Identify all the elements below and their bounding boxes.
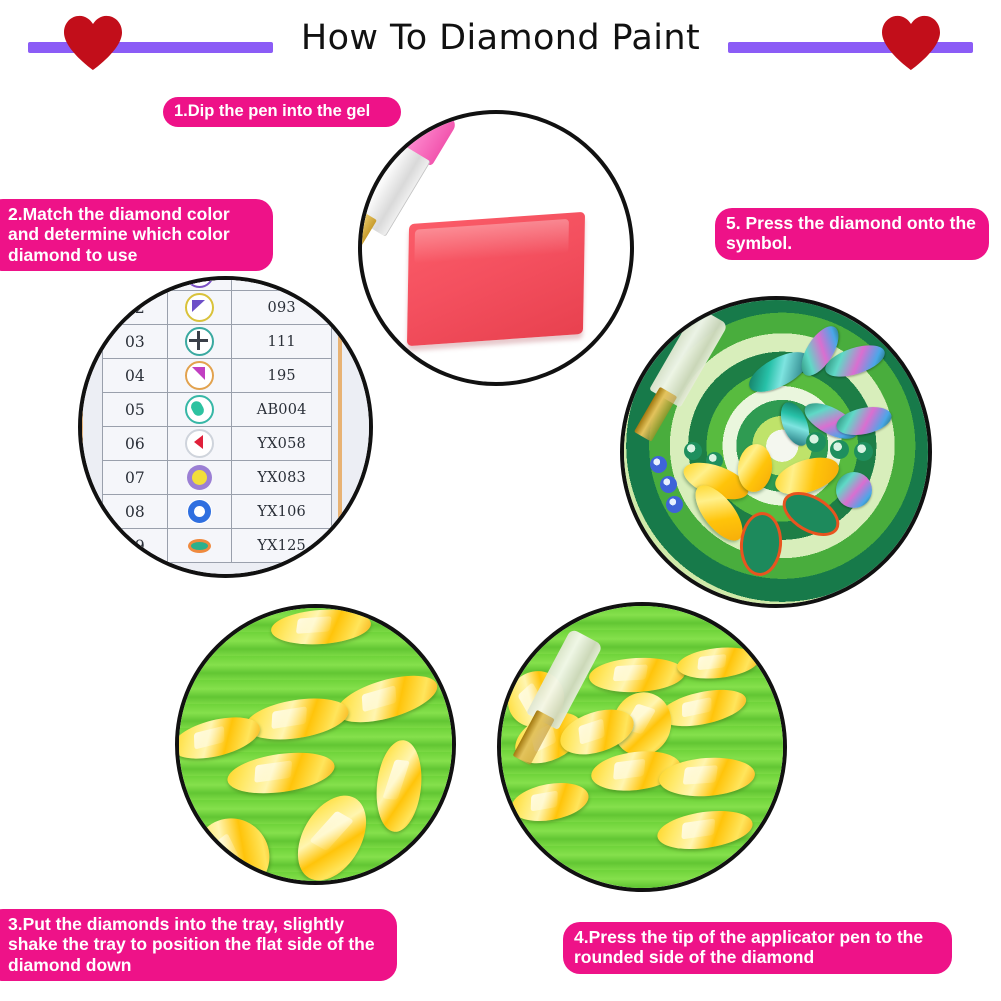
rhinestone bbox=[270, 607, 372, 648]
chart-symbol-triangle-purple bbox=[167, 291, 232, 325]
table-row: 07 YX083 bbox=[103, 461, 332, 495]
pill-teal-icon bbox=[185, 395, 214, 424]
chart-code: YX125 bbox=[232, 529, 332, 563]
step-5-label: 5. Press the diamond onto the symbol. bbox=[715, 208, 989, 260]
chart-symbol-leaf-teal bbox=[167, 529, 232, 563]
gem-small-blue bbox=[666, 496, 683, 513]
rhinestone bbox=[225, 747, 337, 800]
step-5-scene bbox=[624, 300, 928, 604]
rhinestone bbox=[588, 656, 686, 695]
rhinestone bbox=[243, 692, 352, 746]
table-row: 05 AB004 bbox=[103, 393, 332, 427]
gel-pad bbox=[407, 212, 585, 346]
chart-symbol-ring-blue bbox=[167, 495, 232, 529]
chart-symbol-plus bbox=[167, 325, 232, 359]
chart-code: YX106 bbox=[232, 495, 332, 529]
chart-symbol-triangle-magenta bbox=[167, 359, 232, 393]
rhinestone bbox=[676, 644, 761, 682]
chart-no: 06 bbox=[103, 427, 168, 461]
page-header: How To Diamond Paint bbox=[0, 0, 1001, 95]
table-row: 06 YX058 bbox=[103, 427, 332, 461]
chart-code: YX083 bbox=[232, 461, 332, 495]
chart-code: 111 bbox=[232, 325, 332, 359]
ring-blue-icon bbox=[187, 499, 212, 524]
rhinestone bbox=[372, 738, 425, 834]
chart-symbol-pill-teal bbox=[167, 393, 232, 427]
step-3-photo bbox=[175, 604, 456, 885]
leaf-teal-icon bbox=[187, 533, 212, 558]
table-row: 02 093 bbox=[103, 291, 332, 325]
step-1-scene bbox=[362, 114, 630, 382]
chart-code: AB004 bbox=[232, 393, 332, 427]
page-title: How To Diamond Paint bbox=[0, 18, 1001, 58]
rhinestone bbox=[284, 784, 380, 885]
color-chart-table: 01 028 02 093 03 bbox=[102, 276, 332, 563]
arrow-red-icon bbox=[185, 429, 214, 458]
chart-no: 03 bbox=[103, 325, 168, 359]
rhinestone bbox=[332, 666, 442, 731]
rhinestone bbox=[179, 803, 284, 885]
chart-no: 08 bbox=[103, 495, 168, 529]
chart-no: 04 bbox=[103, 359, 168, 393]
gem-small-green bbox=[830, 440, 849, 459]
gem-small-blue bbox=[650, 456, 667, 473]
chart-code: YX058 bbox=[232, 427, 332, 461]
step-3-tray bbox=[179, 608, 452, 881]
table-row: 09 YX125 bbox=[103, 529, 332, 563]
rhinestone bbox=[655, 805, 755, 854]
chart-code: 195 bbox=[232, 359, 332, 393]
chart-symbol-arrow-red bbox=[167, 427, 232, 461]
table-row: 08 YX106 bbox=[103, 495, 332, 529]
gem-round-aurora bbox=[836, 472, 872, 508]
table-row: 03 111 bbox=[103, 325, 332, 359]
plus-icon bbox=[185, 327, 214, 356]
chart-symbol-dot-yellow bbox=[167, 461, 232, 495]
gem-small-green bbox=[806, 432, 826, 452]
color-chart-body: 01 028 02 093 03 bbox=[103, 276, 332, 563]
smiley-icon bbox=[185, 276, 214, 288]
color-chart-sheet: 01 028 02 093 03 bbox=[78, 276, 373, 578]
step-4-label: 4.Press the tip of the applicator pen to… bbox=[563, 922, 952, 974]
gem-small-green bbox=[854, 442, 873, 461]
chart-no: 02 bbox=[103, 291, 168, 325]
triangle-magenta-icon bbox=[185, 361, 214, 390]
step-3-label: 3.Put the diamonds into the tray, slight… bbox=[0, 909, 397, 981]
dot-yellow-icon bbox=[187, 465, 212, 490]
chart-code: 028 bbox=[232, 276, 332, 291]
rhinestone bbox=[508, 778, 591, 827]
chart-symbol-smiley bbox=[167, 276, 232, 291]
step-2-label: 2.Match the diamond color and determine … bbox=[0, 199, 273, 271]
step-4-tray bbox=[501, 606, 783, 888]
step-4-photo bbox=[497, 602, 787, 892]
chart-no: 07 bbox=[103, 461, 168, 495]
table-row: 01 028 bbox=[103, 276, 332, 291]
chart-no: 09 bbox=[103, 529, 168, 563]
gem-small-green bbox=[684, 442, 702, 460]
gem-small-blue bbox=[660, 476, 677, 493]
step-2-scene: 01 028 02 093 03 bbox=[82, 280, 369, 574]
step-1-photo bbox=[358, 110, 634, 386]
chart-no: 05 bbox=[103, 393, 168, 427]
step-5-photo bbox=[620, 296, 932, 608]
chart-no: 01 bbox=[103, 276, 168, 291]
chart-code: 093 bbox=[232, 291, 332, 325]
step-2-photo: 01 028 02 093 03 bbox=[78, 276, 373, 578]
triangle-purple-icon bbox=[185, 293, 214, 322]
table-row: 04 195 bbox=[103, 359, 332, 393]
